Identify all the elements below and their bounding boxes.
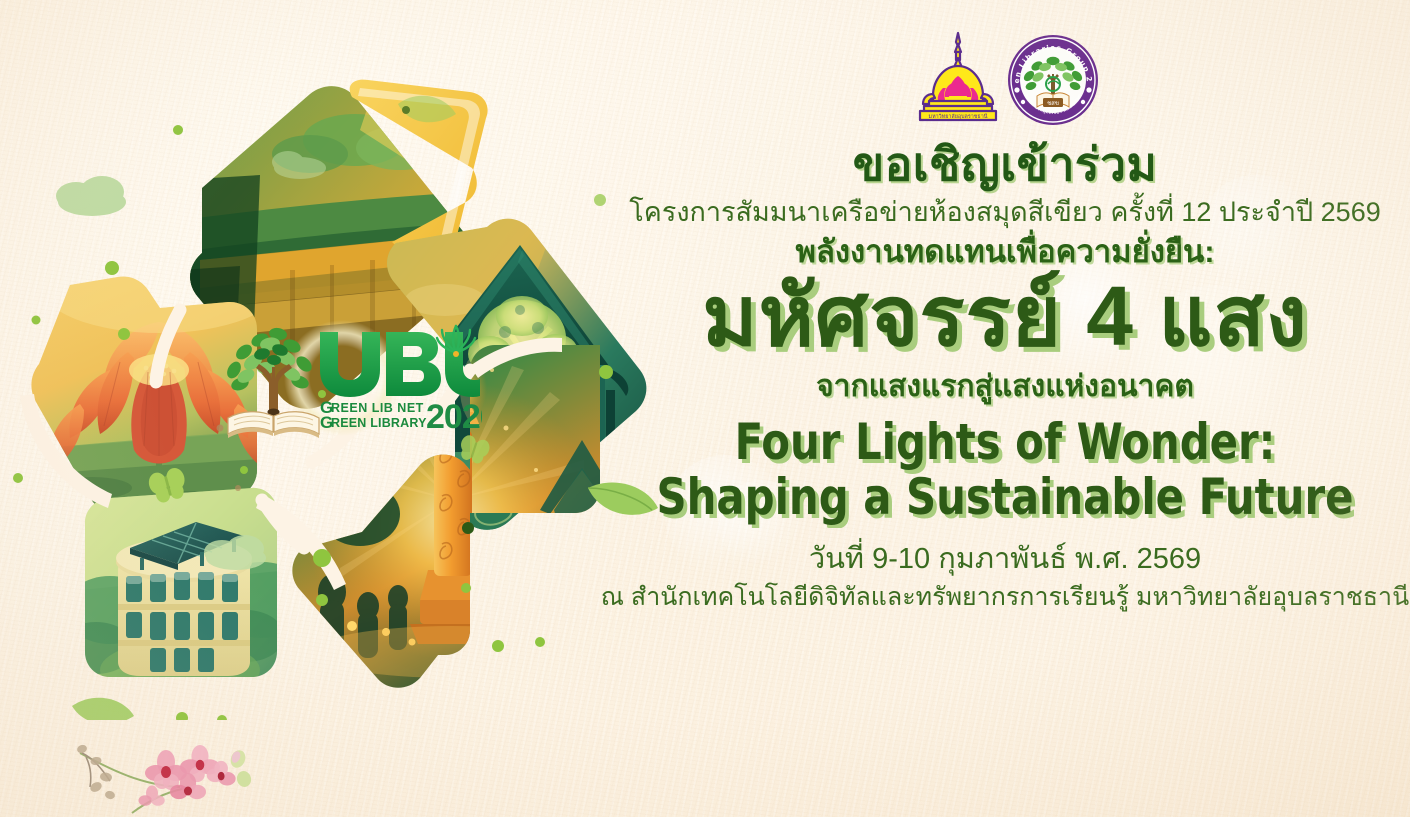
venue-line: ณ สำนักเทคโนโลยีดิจิทัลและทรัพยากรการเรี… [600,581,1410,614]
poster-canvas: G REEN LIB NET G REEN LIBRARY 2026 [0,0,1410,817]
ubu-green-lib-net-logo: G REEN LIB NET G REEN LIBRARY 2026 [214,316,482,442]
logo-year: 2026 [426,398,482,436]
orchid-blossom [139,745,236,806]
poster-text-column: ขอเชิญเข้าร่วม โครงการสัมมนาเครือข่ายห้อ… [600,140,1410,614]
english-title: Four Lights of Wonder: Shaping a Sustain… [628,415,1381,525]
green-lib-taglines: G REEN LIB NET G REEN LIBRARY [320,398,432,432]
date-line: วันที่ 9-10 กุมภาพันธ์ พ.ศ. 2569 [600,541,1410,579]
svg-text:REEN LIB NET: REEN LIB NET [331,401,424,415]
svg-text:REEN LIBRARY: REEN LIBRARY [331,416,427,430]
green-libraries-group-seal: Green Libraries Group 2020 ชมรมห้องสมุดส… [1007,34,1099,126]
seal-book-icon: ชสข [1037,93,1069,107]
theme-line: พลังงานทดแทนเพื่อความยั่งยืน: [600,233,1410,270]
project-line: โครงการสัมมนาเครือข่ายห้องสมุดสีเขียว คร… [600,196,1410,230]
subheadline: จากแสงแรกสู่แสงแห่งอนาคต [600,368,1410,406]
university-seal-caption: มหาวิทยาลัยอุบลราชธานี [929,113,988,120]
open-book-icon [228,412,319,438]
invite-heading: ขอเชิญเข้าร่วม [600,140,1410,190]
ubu-university-seal: มหาวิทยาลัยอุบลราชธานี [915,30,1001,130]
seal-book-label: ชสข [1047,100,1059,107]
headline: มหัศจรรย์ 4 แสง [600,273,1410,360]
orchid-branch-decoration [70,735,280,817]
top-logo-row: มหาวิทยาลัยอุบลราชธานี Green Libraries G… [915,28,1105,132]
english-title-line1: Four Lights of Wonder: [628,415,1381,470]
english-title-line2: Shaping a Sustainable Future [628,470,1381,525]
